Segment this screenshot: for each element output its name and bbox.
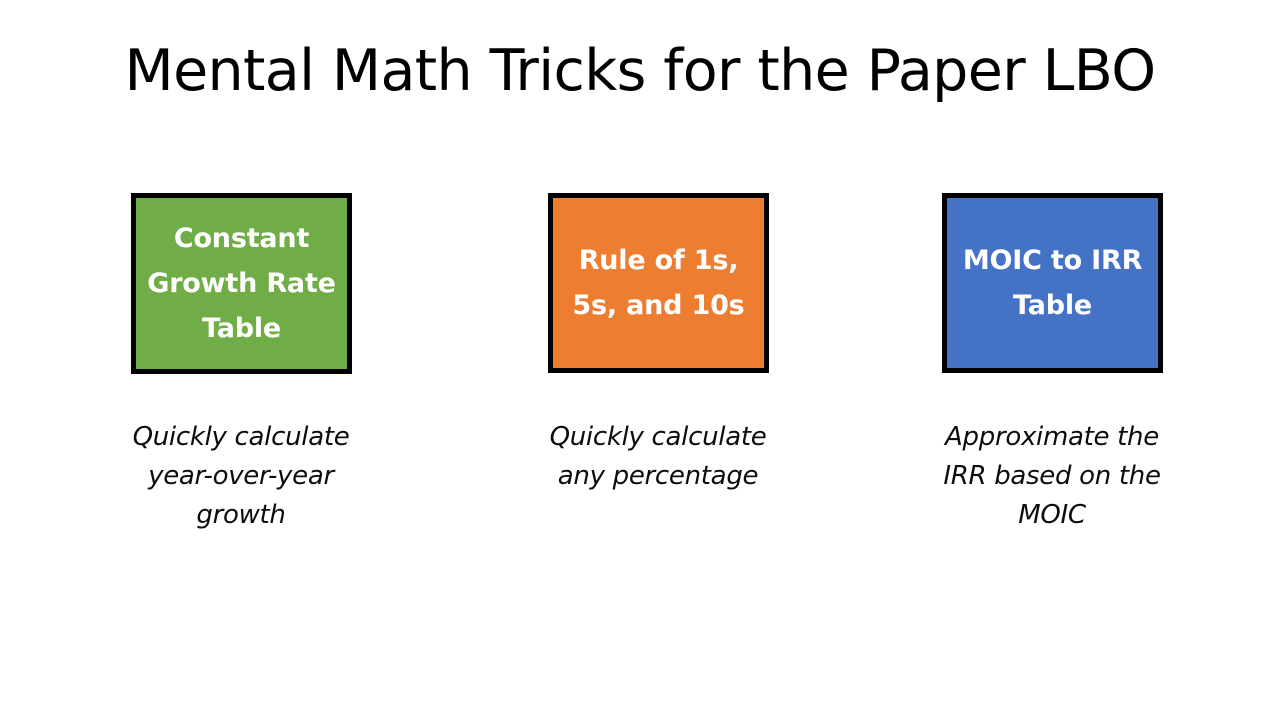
concept-box-label: Constant Growth Rate Table — [141, 216, 342, 351]
concept-box-moic-to-irr-table[interactable]: MOIC to IRR Table — [942, 193, 1163, 373]
slide-canvas: Mental Math Tricks for the Paper LBO Con… — [0, 0, 1280, 720]
concept-box-label: MOIC to IRR Table — [957, 238, 1148, 328]
concept-box-label: Rule of 1s, 5s, and 10s — [566, 238, 750, 328]
concept-caption: Quickly calculate any percentage — [503, 418, 813, 496]
page-title: Mental Math Tricks for the Paper LBO — [0, 36, 1280, 106]
concept-box-rule-of-1s-5s-10s[interactable]: Rule of 1s, 5s, and 10s — [548, 193, 769, 373]
concept-caption: Quickly calculate year-over-year growth — [86, 418, 396, 535]
concept-columns: Constant Growth Rate Table Quickly calcu… — [0, 193, 1280, 573]
concept-caption: Approximate the IRR based on the MOIC — [897, 418, 1207, 535]
concept-box-constant-growth-rate-table[interactable]: Constant Growth Rate Table — [131, 193, 352, 374]
